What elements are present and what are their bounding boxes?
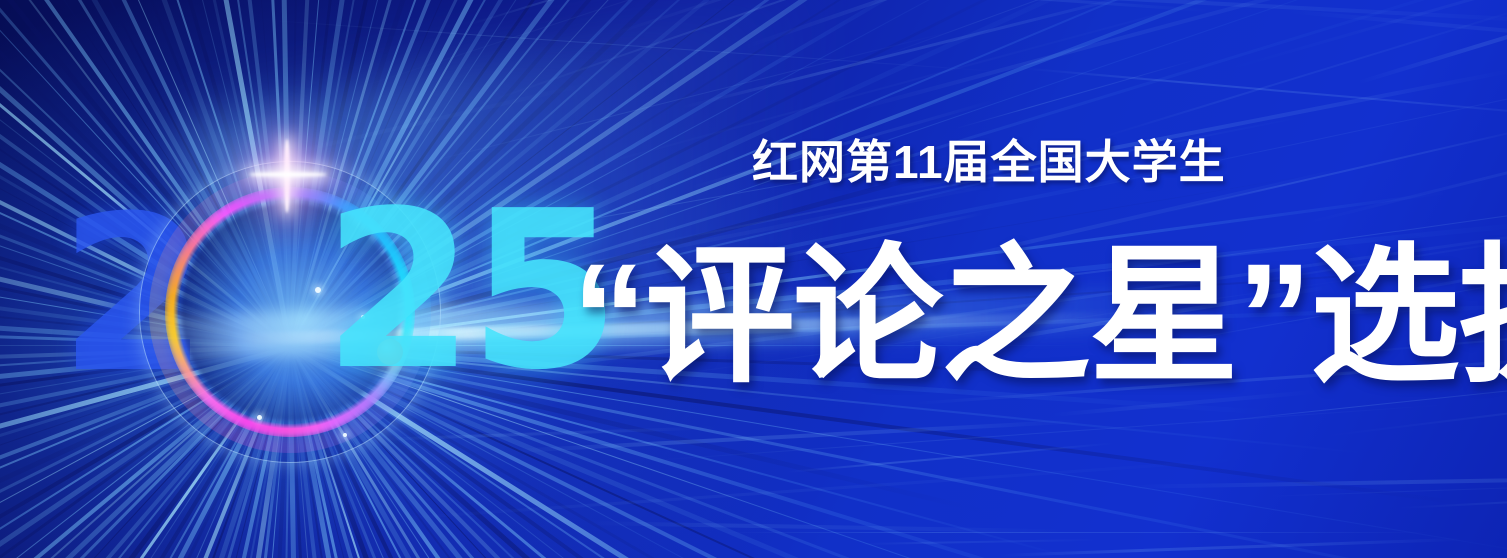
speed-streak [386,458,1246,521]
speed-streak [1125,470,1507,489]
event-banner: 2 25 红网第11届全国大学生 “评论之星”选拔赛 [0,0,1507,558]
banner-main-title: “评论之星”选拔赛 [572,238,1507,396]
speed-streak [861,539,1098,545]
particle-dot [343,433,347,437]
banner-subtitle: 红网第11届全国大学生 [752,126,1226,192]
star-sparkle-icon [285,173,289,177]
year-2025-graphic: 2 25 [55,165,575,465]
speed-streak [724,532,1432,533]
particle-dot [315,287,321,293]
year-digits-25: 25 [323,183,614,401]
speed-streak [650,404,1448,461]
particle-dot [257,415,262,420]
